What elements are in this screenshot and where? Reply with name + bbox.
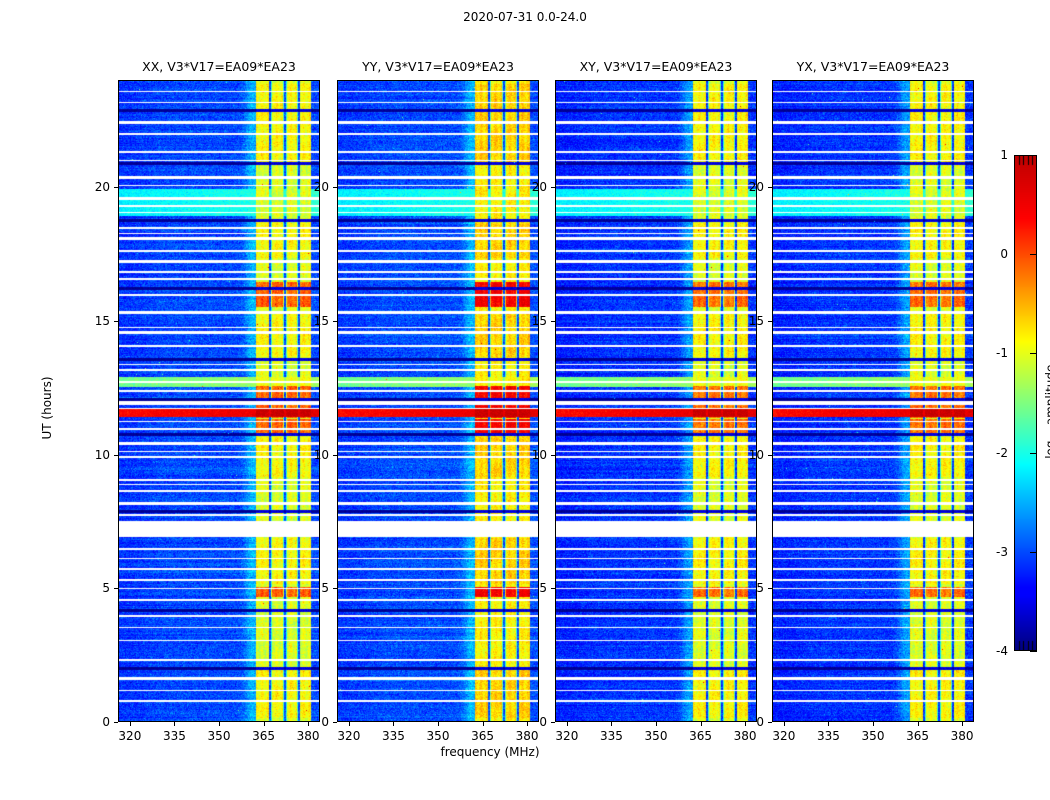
y-axis-label: UT (hours) [40,348,54,468]
x-tick-label: 350 [862,729,885,743]
x-tick-label: 380 [297,729,320,743]
colorbar-label: log10 amplitude [1043,312,1050,512]
x-tick-label: 350 [427,729,450,743]
x-tick-label: 320 [337,729,360,743]
x-tick-label: 350 [208,729,231,743]
x-tick-mark [784,722,785,726]
colorbar-tick-label: 1 [980,148,1008,162]
waterfall-panel-yy[interactable] [337,80,539,722]
y-tick-label: 5 [507,581,547,595]
colorbar-tick-label: -3 [980,545,1008,559]
colorbar-tick-mark [1030,155,1037,156]
y-tick-mark [114,455,118,456]
figure-canvas: 2020-07-31 0.0-24.0 XX, V3*V17=EA09*EA23… [0,0,1050,800]
x-tick-label: 365 [471,729,494,743]
colorbar-tick-label: -2 [980,446,1008,460]
colorbar-tick-mark [1030,353,1037,354]
y-tick-label: 20 [507,180,547,194]
x-tick-mark [438,722,439,726]
y-tick-label: 20 [289,180,329,194]
y-tick-label: 20 [70,180,110,194]
x-tick-label: 335 [600,729,623,743]
x-tick-label: 320 [772,729,795,743]
y-tick-mark [768,455,772,456]
y-tick-label: 20 [724,180,764,194]
x-tick-mark [130,722,131,726]
colorbar-tick-mark [1030,453,1037,454]
x-tick-mark [349,722,350,726]
y-tick-mark [333,321,337,322]
colorbar-tick-label: 0 [980,247,1008,261]
x-tick-label: 320 [555,729,578,743]
y-tick-label: 15 [70,314,110,328]
y-tick-label: 5 [70,581,110,595]
y-tick-label: 5 [289,581,329,595]
y-tick-label: 15 [724,314,764,328]
x-tick-label: 335 [817,729,840,743]
x-tick-mark [174,722,175,726]
x-tick-label: 380 [516,729,539,743]
y-tick-label: 0 [507,715,547,729]
x-tick-mark [567,722,568,726]
y-tick-label: 0 [70,715,110,729]
x-tick-mark [656,722,657,726]
panel-title-xx: XX, V3*V17=EA09*EA23 [118,59,320,74]
y-tick-label: 5 [724,581,764,595]
colorbar[interactable] [1014,155,1037,651]
y-tick-mark [551,455,555,456]
y-tick-mark [551,187,555,188]
y-tick-mark [114,588,118,589]
x-axis-label: frequency (MHz) [330,745,650,759]
x-tick-label: 365 [689,729,712,743]
x-tick-mark [918,722,919,726]
waterfall-panel-xx[interactable] [118,80,320,722]
figure-suptitle: 2020-07-31 0.0-24.0 [0,10,1050,24]
x-tick-label: 365 [252,729,275,743]
y-tick-mark [768,321,772,322]
panel-title-yx: YX, V3*V17=EA09*EA23 [772,59,974,74]
y-tick-mark [333,455,337,456]
y-tick-mark [551,321,555,322]
panel-title-xy: XY, V3*V17=EA09*EA23 [555,59,757,74]
colorbar-tick-mark [1030,552,1037,553]
x-tick-mark [828,722,829,726]
x-tick-label: 365 [906,729,929,743]
x-tick-label: 380 [734,729,757,743]
y-tick-label: 15 [507,314,547,328]
colorbar-tick-label: -4 [980,644,1008,658]
y-tick-label: 10 [70,448,110,462]
colorbar-tick-mark [1030,254,1037,255]
y-tick-mark [333,588,337,589]
x-tick-label: 335 [163,729,186,743]
y-tick-mark [114,187,118,188]
y-tick-mark [768,187,772,188]
panel-title-yy: YY, V3*V17=EA09*EA23 [337,59,539,74]
y-tick-mark [768,588,772,589]
y-tick-label: 0 [289,715,329,729]
y-tick-mark [768,722,772,723]
x-tick-mark [611,722,612,726]
waterfall-panel-yx[interactable] [772,80,974,722]
waterfall-panel-xy[interactable] [555,80,757,722]
y-tick-mark [333,187,337,188]
x-tick-mark [962,722,963,726]
x-tick-mark [219,722,220,726]
y-tick-mark [551,722,555,723]
x-tick-mark [393,722,394,726]
x-tick-mark [264,722,265,726]
colorbar-tick-label: -1 [980,346,1008,360]
y-tick-label: 0 [724,715,764,729]
y-tick-mark [551,588,555,589]
x-tick-label: 335 [382,729,405,743]
x-tick-mark [483,722,484,726]
x-tick-label: 350 [645,729,668,743]
x-tick-mark [873,722,874,726]
y-tick-label: 15 [289,314,329,328]
x-tick-label: 380 [951,729,974,743]
y-tick-label: 10 [507,448,547,462]
y-tick-label: 10 [724,448,764,462]
y-tick-mark [333,722,337,723]
y-tick-mark [114,321,118,322]
y-tick-label: 10 [289,448,329,462]
x-tick-label: 320 [118,729,141,743]
x-tick-mark [701,722,702,726]
y-tick-mark [114,722,118,723]
colorbar-tick-mark [1030,651,1037,652]
